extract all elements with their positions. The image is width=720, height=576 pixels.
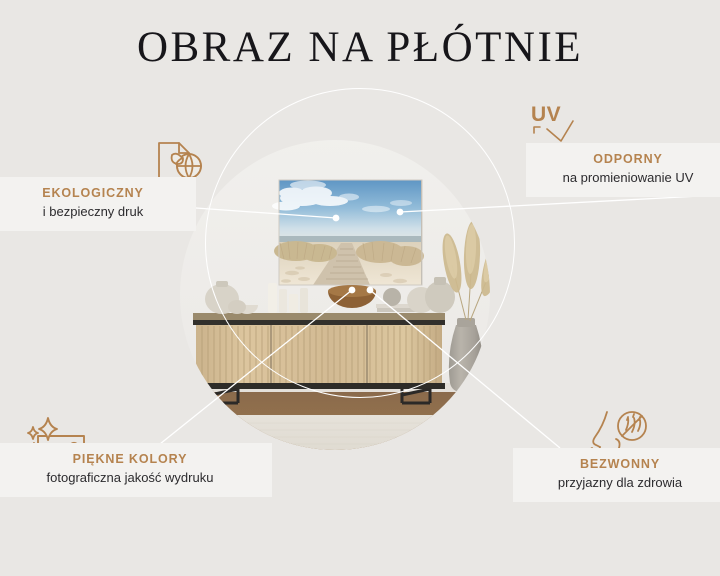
feature-title-smell: BEZWONNY bbox=[527, 457, 713, 473]
feature-subtitle-uv: na promieniowanie UV bbox=[540, 169, 716, 187]
feature-subtitle-smell: przyjazny dla zdrowia bbox=[527, 474, 713, 492]
interior-scene bbox=[180, 85, 540, 485]
poster-root: OBRAZ NA PŁÓTNIE bbox=[0, 0, 720, 576]
uv-icon-label: UV bbox=[531, 103, 561, 126]
feature-title-uv: ODPORNY bbox=[540, 152, 716, 168]
feature-title-colors: PIĘKNE KOLORY bbox=[2, 452, 258, 468]
page-title: OBRAZ NA PŁÓTNIE bbox=[0, 26, 720, 69]
feature-subtitle-eco: i bezpieczny druk bbox=[4, 203, 182, 221]
feature-box-uv[interactable]: ODPORNY na promieniowanie UV bbox=[526, 143, 720, 197]
feature-box-smell[interactable]: BEZWONNY przyjazny dla zdrowia bbox=[513, 448, 720, 502]
feature-box-eco[interactable]: EKOLOGICZNY i bezpieczny druk bbox=[0, 177, 196, 231]
feature-title-eco: EKOLOGICZNY bbox=[4, 186, 182, 202]
feature-subtitle-colors: fotograficzna jakość wydruku bbox=[2, 469, 258, 487]
feature-box-colors[interactable]: PIĘKNE KOLORY fotograficzna jakość wydru… bbox=[0, 443, 272, 497]
